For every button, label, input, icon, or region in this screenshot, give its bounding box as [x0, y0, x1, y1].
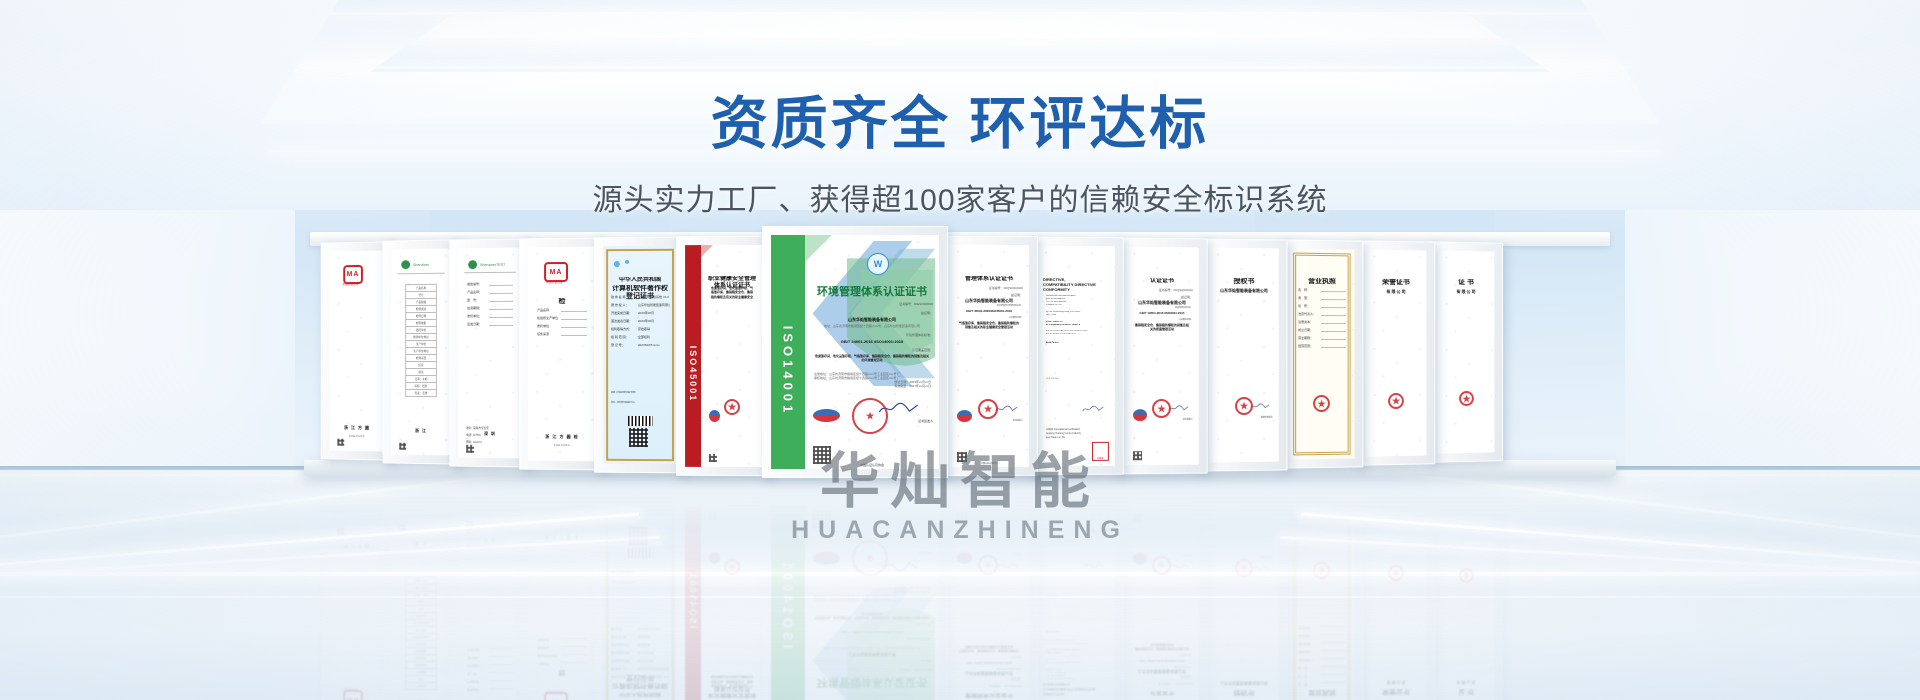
field-rule — [1321, 307, 1346, 308]
ce-standard-line-reflection: EN 55011:2009+A1:2010 / EN 61000-6-2:201… — [1046, 642, 1106, 644]
ce-annex-line-reflection: tic Compatibility Directive : Annex II — [1046, 648, 1106, 650]
certificate-number: 证书编号：00ES0000000 — [899, 302, 933, 306]
field-value-reflection: 原始取得 — [638, 643, 670, 647]
field-label-reflection: 委托单位： — [467, 656, 482, 660]
certificate-frame[interactable]: 荣誉证书有 限 公 司 — [1356, 240, 1435, 466]
qr-code-reflection — [466, 521, 474, 529]
field-rule — [561, 311, 587, 312]
ce-body-line: Zhongtai Co., Ltd — [1046, 304, 1106, 306]
ce-body-line: Manufacturer and audit has been — [1046, 295, 1106, 297]
ce-body-line-reflection: Manufacturer and audit has been — [1046, 677, 1106, 679]
field-label: 权 利 范 围： — [611, 335, 628, 339]
certificate-paper-reflection: Shenzhen产品名称型号产品规格检测类别检测日期检测依据委托单位检测单位地址… — [391, 519, 450, 700]
form-row-reflection: 检测依据 — [405, 647, 437, 655]
page-title: 资质齐全 环评达标 — [0, 96, 1920, 153]
certificate-supertitle: 中华人民共和国 — [609, 277, 671, 284]
official-red-seal — [1235, 397, 1253, 415]
accreditation-logo-reflection — [957, 552, 972, 564]
certificate-title: 检 — [534, 298, 590, 306]
certificate-frame-reflection: DIRECTIVE,COMPATIBILITY DIRECTIVECONFORM… — [1028, 499, 1124, 700]
signature-mark-reflection — [1168, 557, 1189, 574]
certificate-note: 依据《计算机软件保护条例》 — [611, 391, 669, 394]
field-rule-reflection — [489, 672, 513, 673]
certificate-paper: 管理体系认证证书证书编号：00QS0000000兹证明：山东华灿智能装备有限公司… — [949, 245, 1029, 467]
certificate-paper-reflection: 授权书山东华灿智能装备有限公司授权代表签名 — [1209, 512, 1279, 700]
field-label-reflection: 检验所生产单位 — [537, 654, 558, 658]
frame-mat-reflection: 荣誉证书有 限 公 司 — [1365, 517, 1426, 700]
certification-scope-reflection: 危废暂存间、危化品暂存柜、气瓶暂存库、集装箱安全仓、集装箱防爆柜的销售及相关的环… — [814, 611, 930, 620]
qr-code-reflection — [337, 528, 344, 535]
issue-line-reflection: 审核地址：山东省济南市槐荫区经十西路xxxx号工业园区xxx号 厂 — [814, 594, 930, 598]
signature-label: 证书签发人 — [1013, 419, 1023, 422]
certificate-frame-reflection: ISO14001 W环境管理体系认证证书证书编号：00ES0000000兹证明：… — [762, 496, 948, 700]
certificate-frame[interactable]: 授权书山东华灿智能装备有限公司授权代表签名 — [1200, 238, 1288, 471]
standard-label: 职业健康安全管理体系标准： — [997, 304, 1023, 307]
field-rule — [1321, 331, 1346, 332]
certificate-title: 证 书 — [1443, 279, 1488, 288]
issuing-organization: 中国认证认可协会 — [811, 463, 933, 467]
certificate-paper-reflection: ShenzhenTEST报告编号：产品名称：型 号：检测期限：委托单位：签发日期… — [458, 516, 522, 700]
certified-company-name: 有 限 公 司 — [1443, 289, 1488, 296]
certified-company-name: 山东华灿智能装备有限公司 — [811, 317, 933, 323]
certificate-frame[interactable]: DIRECTIVE,COMPATIBILITY DIRECTIVECONFORM… — [1028, 237, 1124, 476]
form-row: 签发：盖章 — [405, 389, 437, 397]
field-label: 产品名称： — [467, 290, 482, 294]
certificate-note-reflection: 依据《计算机软件保护条例》 — [611, 580, 669, 583]
ce-title-line: CONFORMITY — [1043, 287, 1109, 292]
frame-mat: ISO45001职业健康安全管理体系认证证书危废暂存间、危化品暂存柜、气瓶暂存库… — [685, 245, 763, 467]
frame-mat: MA中国计量认证浙 江 方 圆ZHEJIANG — [330, 250, 385, 451]
certificate-number-reflection: 证书编号：00QS0000000 — [1159, 682, 1193, 686]
field-rule — [1321, 347, 1346, 348]
official-red-seal-reflection — [1313, 562, 1330, 579]
company-label-reflection: 兹证明： — [921, 659, 933, 663]
accreditation-logo-reflection — [813, 552, 840, 565]
form-row-reflection: 日期：主检 — [405, 591, 437, 599]
issuer-line: UDEM International Certification — [1046, 428, 1080, 431]
form-row-reflection: 型号 — [405, 675, 437, 683]
frame-mat-reflection: 认证证书证书编号：00QS0000000兹证明：山东华灿智能装备有限公司质量管理… — [1125, 509, 1199, 700]
issuer-line-reflection: Auditing Training Centre Industry — [1046, 539, 1081, 542]
certificate-title: 环境管理体系认证证书 — [811, 286, 933, 299]
official-red-seal-reflection — [978, 555, 998, 575]
certificate-footer: 浙 江 方 圆 检 — [534, 434, 590, 440]
certificate-title-reflection: 证 书 — [1443, 687, 1488, 696]
field-label: 经营范围： — [1298, 344, 1313, 348]
field-label: 注册资本： — [1298, 320, 1313, 324]
frame-mat: Shenzhen产品名称型号产品规格检测类别检测日期检测依据委托单位检测单位地址… — [391, 249, 450, 456]
certificate-frame[interactable]: ISO45001职业健康安全管理体系认证证书危废暂存间、危化品暂存柜、气瓶暂存库… — [676, 236, 772, 476]
certification-scope: 气瓶暂存库、集装箱安全仓、集装箱防爆柜的销售及相关的职业健康安全管理活动 — [958, 321, 1020, 330]
field-label: 委托单位 — [537, 324, 549, 328]
certification-standard: GB/T 24001-2016 /ISO14001:2015 — [811, 339, 933, 344]
frame-mat-reflection: 授权书山东华灿智能装备有限公司授权代表签名 — [1209, 512, 1279, 700]
field-value-reflection: 2023年05月 — [638, 659, 670, 663]
certificate-paper: ISO45001职业健康安全管理体系认证证书危废暂存间、危化品暂存柜、气瓶暂存库… — [685, 245, 763, 467]
field-label: 软 件 名 称： — [611, 295, 628, 299]
field-rule — [1321, 339, 1346, 340]
certification-standard: GB/T 45001-2020/ISO45001:2018 — [955, 309, 1023, 313]
certificate-footer-reflection: 浙 江 方 圆 — [335, 543, 378, 550]
lab-org-logo: ShenzhenTEST — [468, 260, 505, 269]
field-label-reflection: 开发完成日期： — [611, 659, 632, 663]
certificate-note-reflection: 商标、软件著作权保护中心 — [611, 570, 669, 573]
certificate-supertitle-reflection: 中华人民共和国 — [609, 690, 671, 697]
certificate-frame[interactable]: Shenzhen产品名称型号产品规格检测类别检测日期检测依据委托单位检测单位地址… — [383, 239, 460, 464]
field-rule — [489, 325, 513, 326]
field-label: 著 作 权 人： — [611, 303, 628, 307]
certificate-paper-reflection: 荣誉证书有 限 公 司 — [1365, 517, 1426, 700]
form-row-reflection: 签发：盖章 — [405, 577, 437, 585]
certification-standard-reflection: GB/T 45001-2020/ISO45001:2018 — [955, 661, 1023, 665]
certification-scope-reflection: 危废暂存间、危化品暂存柜、气瓶暂存库、集装箱安全仓、集装箱防爆柜及有关的职业健康… — [710, 675, 754, 688]
standard-label: 质量管理体系标准： — [1175, 306, 1193, 309]
certificate-spine-label: ISO45001 — [688, 345, 698, 401]
certificate-note: 商标、软件著作权保护中心 — [611, 401, 669, 404]
field-rule-reflection — [561, 646, 587, 647]
auditor-label: Audit Partner — [1046, 342, 1059, 344]
certificate-paper-reflection: 营业执照名 称：类 型：住 所：法定代表人：注册资本：成立日期：营业期限：经营范… — [1289, 514, 1354, 700]
field-label-reflection: 签发日期： — [467, 648, 482, 652]
ma-badge-caption: 中国计量认证 — [540, 280, 569, 284]
certified-company-name-reflection: 山东华灿智能装备有限公司 — [1215, 680, 1273, 686]
certificate-spine-label: ISO14001 — [781, 325, 796, 416]
field-rule-reflection — [1321, 674, 1346, 675]
standard-label-reflection: 职业健康安全管理体系标准： — [997, 667, 1023, 670]
field-value: 山东华灿智能装备有限公司 — [638, 303, 670, 307]
issuer-line: Auditing Training Centre Industry — [1046, 432, 1081, 435]
official-red-seal — [1459, 391, 1474, 406]
qr-code — [466, 445, 474, 453]
form-row-reflection: 检测项目 — [405, 612, 437, 620]
certificate-footer-line: 网址: www.sz — [466, 440, 482, 444]
certificate-paper-reflection: 管理体系认证证书证书编号：00QS0000000兹证明：山东华灿智能装备有限公司… — [949, 507, 1029, 700]
ce-address-line: ng: No. Shihuanang Road, Juxu Dirfict, — [1046, 311, 1106, 313]
field-label: 成立日期： — [1298, 328, 1313, 332]
certificate-paper-reflection: ISO45001职业健康安全管理体系认证证书危废暂存间、危化品暂存柜、气瓶暂存库… — [685, 507, 763, 700]
scope-label-reflection: 认证覆盖范围： — [1009, 655, 1023, 658]
field-rule-reflection — [561, 654, 587, 655]
certificate-frame[interactable]: MA中国计量认证检产品名称检验所生产单位委托单位任务来源浙 江 方 圆 检ZHE… — [519, 238, 605, 471]
signature-mark — [1168, 400, 1189, 417]
certificate-frame-reflection: 管理体系认证证书证书编号：00QS0000000兹证明：山东华灿智能装备有限公司… — [940, 498, 1038, 700]
certification-standard-reflection: GB/T 24001-2016 /ISO14001:2015 — [811, 630, 933, 635]
field-label-reflection: 营业期限： — [1298, 634, 1313, 638]
field-label: 首次发表日期： — [611, 319, 632, 323]
frame-mat: 管理体系认证证书证书编号：00QS0000000兹证明：山东华灿智能装备有限公司… — [949, 245, 1029, 467]
certificate-footer-line-reflection: 地址: 深圳市宝安区 — [466, 544, 489, 548]
qr-code — [813, 446, 831, 464]
frame-mat: ISO14001 W环境管理体系认证证书证书编号：00ES0000000兹证明：… — [771, 235, 939, 469]
field-rule — [489, 293, 513, 294]
frame-mat-reflection: DIRECTIVE,COMPATIBILITY DIRECTIVECONFORM… — [1037, 508, 1115, 700]
certificate-footer-line: 电话: (0755) — [466, 433, 481, 437]
certification-scope-reflection: 集装箱安全仓、集装箱防爆柜的销售及相关的质量管理活动 — [1134, 642, 1190, 651]
license-border-reflection — [1293, 519, 1350, 700]
field-label: 类 型： — [1298, 296, 1310, 300]
field-rule — [489, 301, 513, 302]
field-label: 名 称： — [1298, 288, 1310, 292]
ornament — [610, 253, 644, 275]
official-red-seal — [1313, 395, 1330, 412]
field-value: 智能在线巡检系统 V1.0 — [638, 295, 670, 299]
certificate-paper: MA中国计量认证检产品名称检验所生产单位委托单位任务来源浙 江 方 圆 检ZHE… — [528, 247, 596, 462]
barcode-reflection — [628, 548, 653, 558]
certificate-frame[interactable]: 证 书有 限 公 司 — [1428, 241, 1503, 463]
certificate-title-reflection: 授权书 — [1215, 688, 1273, 697]
certificate-frame-reflection: MA中国计量认证检产品名称检验所生产单位委托单位任务来源浙 江 方 圆 检ZHE… — [519, 504, 605, 700]
company-label-reflection: 兹证明： — [1011, 677, 1023, 681]
certificate-footer: 浙 江 方 圆 — [335, 425, 378, 432]
field-label-reflection: 权 利 范 围： — [611, 635, 628, 639]
field-label: 住 所： — [1298, 304, 1310, 308]
qr-code-reflection — [399, 524, 406, 531]
ce-standard-line: EN IEC 61000-3-2:2019+A1:2021 — [1046, 333, 1106, 335]
field-label-reflection: 名 称： — [1298, 682, 1310, 686]
certificate-frame-reflection: Shenzhen产品名称型号产品规格检测类别检测日期检测依据委托单位检测单位地址… — [383, 509, 460, 700]
field-rule — [489, 285, 513, 286]
field-rule — [1321, 299, 1346, 300]
field-label: 检验所生产单位 — [537, 316, 558, 320]
field-label-reflection: 首次发表日期： — [611, 651, 632, 655]
ce-annex-line: ective : Annex VII — [1046, 321, 1106, 323]
frame-mat: 营业执照名 称：类 型：住 所：法定代表人：注册资本：成立日期：营业期限：经营范… — [1289, 248, 1354, 459]
certificate-paper-reflection: MA中国计量认证浙 江 方 圆ZHEJIANG — [330, 522, 385, 700]
field-label-reflection: 型 号： — [467, 672, 479, 676]
ce-address-line-reflection: ng: No. Shihuanang Road, Juxu Dirfict, — [1046, 661, 1106, 663]
standard-label: 环境管理体系标准： — [906, 333, 933, 337]
certification-scope: 集装箱安全仓、集装箱防爆柜的销售及相关的质量管理活动 — [1134, 323, 1190, 332]
frame-mat: 荣誉证书有 限 公 司 — [1365, 249, 1426, 456]
date-line-reflection: 有效期至：2027年xx月xx日 — [894, 586, 931, 590]
certificate-frame-reflection: 授权书山东华灿智能装备有限公司授权代表签名 — [1200, 502, 1288, 700]
qr-code-reflection — [629, 527, 648, 546]
frame-mat-reflection: MA中国计量认证浙 江 方 圆ZHEJIANG — [330, 522, 385, 700]
field-label-reflection: 经营范围： — [1298, 626, 1313, 630]
field-value-reflection: 全部权利 — [638, 635, 670, 639]
field-value-reflection: 2023SR07xxxxx — [638, 627, 670, 631]
certificate-title-reflection: 检 — [534, 668, 590, 676]
company-label: 兹证明： — [1181, 295, 1193, 299]
standard-label-reflection: 质量管理体系标准： — [1175, 665, 1193, 668]
field-label: 开发完成日期： — [611, 311, 632, 315]
certificate-frame[interactable]: 管理体系认证证书证书编号：00QS0000000兹证明：山东华灿智能装备有限公司… — [940, 236, 1038, 476]
certificate-footer-line-reflection: 电话: (0755) — [466, 537, 481, 541]
headline-block: 资质齐全 环评达标 源头实力工厂、获得超100家客户的信赖安全标识系统 — [0, 0, 1920, 219]
ce-annex-line-reflection: ective : Annex VII — [1046, 651, 1106, 653]
frame-mat-reflection: MA中国计量认证检产品名称检验所生产单位委托单位任务来源浙 江 方 圆 检ZHE… — [528, 513, 596, 700]
ma-badge-caption-reflection: 中国计量认证 — [540, 690, 569, 694]
field-label-reflection: 登 记 号： — [611, 627, 625, 631]
certificate-footer-sub-reflection: ZHEJIANG — [534, 527, 590, 530]
qr-code-reflection — [1133, 514, 1142, 523]
field-label: 签发日期： — [467, 322, 482, 326]
field-label-reflection: 报告编号： — [467, 688, 482, 692]
field-rule — [489, 309, 513, 310]
certificate-shelf-reflection: MA中国计量认证浙 江 方 圆ZHEJIANG Shenzhen产品名称型号产品… — [310, 492, 1610, 700]
form-row-reflection: 检测单位地址 — [405, 633, 437, 641]
field-label-reflection: 任务来源 — [537, 638, 549, 642]
signature-label-reflection: 证书签发人 — [1013, 552, 1023, 555]
qr-code — [399, 443, 406, 450]
field-value: 2023SR07xxxxx — [638, 343, 670, 347]
field-rule — [561, 319, 587, 320]
field-label-reflection: 著 作 权 人： — [611, 667, 628, 671]
ma-badge-caption: 中国计量认证 — [339, 282, 362, 286]
certificate-shelf: MA中国计量认证浙 江 方 圆ZHEJIANG Shenzhen产品名称型号产品… — [310, 232, 1610, 482]
field-label-reflection: 软 件 名 称： — [611, 675, 628, 679]
certificate-title-reflection: 营业执照 — [1295, 688, 1349, 697]
certificate-frame-reflection: ISO45001职业健康安全管理体系认证证书危废暂存间、危化品暂存柜、气瓶暂存库… — [676, 498, 772, 700]
qr-code — [629, 428, 648, 447]
company-address: 地址：山东省济南市槐荫区经十西路xxxx号，山东华灿智能装备有限公司 — [811, 324, 933, 328]
certificate-title: 授权书 — [1215, 278, 1273, 287]
form-row-reflection: 产品规格 — [405, 668, 437, 676]
form-row-reflection: 备注 — [405, 598, 437, 606]
issuer-line-reflection: UDEM International Certification — [1046, 543, 1080, 546]
certificate-footer-line-reflection: 网址: www.sz — [466, 530, 482, 534]
certificate-title-reflection: 认证证书 — [1131, 689, 1193, 696]
official-red-seal — [1152, 399, 1171, 418]
field-rule-reflection — [1321, 658, 1346, 659]
certificate-paper-reflection: DIRECTIVE,COMPATIBILITY DIRECTIVECONFORM… — [1037, 508, 1115, 700]
company-label: 兹证明： — [921, 311, 933, 315]
certified-company-name-reflection: 有 限 公 司 — [1371, 679, 1420, 686]
certificate-frame-reflection: 荣誉证书有 限 公 司 — [1356, 508, 1435, 700]
certificate-paper: ISO14001 W环境管理体系认证证书证书编号：00ES0000000兹证明：… — [771, 235, 939, 469]
official-red-seal-reflection — [852, 540, 888, 576]
certificate-title-reflection: 环境管理体系认证证书 — [811, 675, 933, 688]
ce-address-line: ince, China — [1046, 314, 1106, 316]
certificate-paper-reflection: 中华人民共和国计算机软件著作权登记证书软 件 名 称：智能在线巡检系统 V1.0… — [603, 510, 677, 700]
certificate-frame-reflection: 认证证书证书编号：00QS0000000兹证明：山东华灿智能装备有限公司质量管理… — [1116, 499, 1208, 700]
certificate-paper: 证 书有 限 公 司 — [1437, 250, 1494, 453]
certificate-title: 认证证书 — [1131, 278, 1193, 285]
field-rule-reflection — [489, 664, 513, 665]
signature-label: 证书签发人 — [1183, 418, 1193, 421]
issuing-organization-reflection: 中国认证认可协会 — [955, 509, 1023, 512]
certificate-paper: Shenzhen产品名称型号产品规格检测类别检测日期检测依据委托单位检测单位地址… — [391, 249, 450, 456]
frame-mat-reflection: ISO14001 W环境管理体系认证证书证书编号：00ES0000000兹证明：… — [771, 505, 939, 700]
certificate-number: 证书编号：00QS0000000 — [1159, 288, 1193, 292]
certificate-paper: ShenzhenTEST报告编号：产品名称：型 号：检测期限：委托单位：签发日期… — [458, 248, 522, 459]
certification-standard-reflection: GB/T 19001-2016 /ISO9001:2015 — [1131, 659, 1193, 663]
ce-body-line-reflection: EMC Electromagnetic — [1046, 674, 1106, 676]
certificate-frame[interactable]: 营业执照名 称：类 型：住 所：法定代表人：注册资本：成立日期：营业期限：经营范… — [1280, 239, 1363, 468]
form-row-reflection: 检测日期 — [405, 654, 437, 662]
qr-code — [1133, 451, 1142, 460]
certificate-title-reflection: 管理体系认证证书 — [955, 691, 1023, 698]
page-subtitle: 源头实力工厂、获得超100家客户的信赖安全标识系统 — [0, 175, 1920, 219]
signature-mark-reflection — [1082, 556, 1104, 574]
hero-banner: 资质齐全 环评达标 源头实力工厂、获得超100家客户的信赖安全标识系统 MA中国… — [0, 0, 1920, 700]
issuing-organization: 中国认证认可协会 — [955, 462, 1023, 465]
frame-mat: 中华人民共和国计算机软件著作权登记证书软 件 名 称：智能在线巡检系统 V1.0… — [603, 246, 677, 464]
field-label-reflection: 法定代表人： — [1298, 658, 1316, 662]
certificate-paper-reflection: 认证证书证书编号：00QS0000000兹证明：山东华灿智能装备有限公司质量管理… — [1125, 509, 1199, 700]
certified-company-name-reflection: 有 限 公 司 — [1443, 679, 1488, 686]
ce-address-line-reflection: ince, China — [1046, 658, 1106, 660]
accreditation-logo — [957, 410, 972, 422]
certificate-paper: 荣誉证书有 限 公 司 — [1365, 249, 1426, 456]
field-label: 营业期限： — [1298, 336, 1313, 340]
accreditation-logo — [709, 410, 720, 422]
scope-label-reflection: 认证覆盖范围： — [912, 622, 933, 626]
signature-label: 证书签发人 — [918, 419, 933, 423]
certificate-number-reflection: 证书编号：00QS0000000 — [989, 684, 1023, 688]
standard-label-reflection: 环境管理体系标准： — [906, 637, 933, 641]
qr-code — [709, 454, 717, 462]
certification-scope: 危废暂存间、危化品暂存柜、气瓶暂存库、集装箱安全仓、集装箱防爆柜及有关的职业健康… — [710, 286, 754, 299]
company-label-reflection: 兹证明： — [1181, 675, 1193, 679]
certificate-frame[interactable]: 中华人民共和国计算机软件著作权登记证书软 件 名 称：智能在线巡检系统 V1.0… — [594, 237, 686, 474]
field-label: 型 号： — [467, 298, 479, 302]
field-value-reflection: 2023年06月 — [638, 651, 670, 655]
signature-label: 授权代表签名 — [1261, 416, 1273, 419]
udem-logo: UDEM — [1092, 442, 1109, 461]
signature-label-reflection: 授权代表签名 — [1261, 555, 1273, 558]
frame-mat: 授权书山东华灿智能装备有限公司授权代表签名 — [1209, 248, 1279, 463]
field-label: 权利取得方式： — [611, 327, 632, 331]
field-rule — [1321, 315, 1346, 316]
certification-scope: 危废暂存间、危化品暂存柜、气瓶暂存库、集装箱安全仓、集装箱防爆柜的销售及相关的环… — [814, 354, 930, 363]
issuer-line-reflection: and Trade Inc. Co. — [1046, 535, 1066, 538]
ma-badge-caption-reflection: 中国计量认证 — [339, 688, 362, 692]
field-label-reflection: 成立日期： — [1298, 642, 1313, 646]
frame-mat-reflection: 证 书有 限 公 司 — [1437, 520, 1494, 700]
signature-label-reflection: 证书签发人 — [918, 551, 933, 555]
official-red-seal-reflection — [1152, 556, 1171, 575]
certificate-paper: 营业执照名 称：类 型：住 所：法定代表人：注册资本：成立日期：营业期限：经营范… — [1289, 248, 1354, 459]
field-rule — [561, 327, 587, 328]
certification-standard: GB/T 19001-2016 /ISO9001:2015 — [1131, 311, 1193, 315]
field-rule-reflection — [1321, 642, 1346, 643]
field-rule-reflection — [561, 662, 587, 663]
certificate-frame[interactable]: 认证证书证书编号：00QS0000000兹证明：山东华灿智能装备有限公司质量管理… — [1116, 237, 1208, 474]
ce-standard-line-reflection: EN IEC 61000-3-2:2019+A1:2021 — [1046, 639, 1106, 641]
frame-mat: 认证证书证书编号：00QS0000000兹证明：山东华灿智能装备有限公司质量管理… — [1125, 247, 1199, 466]
accreditation-logo-reflection — [709, 552, 720, 564]
ce-title-line-reflection: CONFORMITY — [1043, 682, 1109, 687]
certificate-frame[interactable]: ISO14001 W环境管理体系认证证书证书编号：00ES0000000兹证明：… — [762, 226, 948, 478]
frame-mat: 证 书有 限 公 司 — [1437, 250, 1494, 453]
certificate-spine-reflection: ISO14001 — [771, 505, 805, 700]
official-red-seal — [1388, 393, 1404, 409]
field-rule — [561, 335, 587, 336]
ce-annex-line: tic Compatibility Directive : Annex II — [1046, 324, 1106, 326]
field-label: 报告编号： — [467, 282, 482, 286]
certificate-paper-reflection: 证 书有 限 公 司 — [1437, 520, 1494, 700]
certificate-title-reflection: 荣誉证书 — [1371, 687, 1420, 696]
frame-mat-reflection: ShenzhenTEST报告编号：产品名称：型 号：检测期限：委托单位：签发日期… — [458, 516, 522, 700]
frame-mat: MA中国计量认证检产品名称检验所生产单位委托单位任务来源浙 江 方 圆 检ZHE… — [528, 247, 596, 462]
field-label: 检测期限： — [467, 306, 482, 310]
frame-mat-reflection: Shenzhen产品名称型号产品规格检测类别检测日期检测依据委托单位检测单位地址… — [391, 519, 450, 700]
frame-mat-reflection: ISO45001职业健康安全管理体系认证证书危废暂存间、危化品暂存柜、气瓶暂存库… — [685, 507, 763, 700]
certificate-paper-reflection: MA中国计量认证检产品名称检验所生产单位委托单位任务来源浙 江 方 圆 检ZHE… — [528, 513, 596, 700]
certificate-frame-reflection: 中华人民共和国计算机软件著作权登记证书软 件 名 称：智能在线巡检系统 V1.0… — [594, 501, 686, 700]
scope-label: 认证覆盖范围： — [912, 348, 933, 352]
field-label-reflection: 产品名称 — [537, 662, 549, 666]
accreditation-logo — [813, 409, 840, 422]
certified-company-name: 有 限 公 司 — [1371, 289, 1420, 296]
accreditation-logo — [1133, 409, 1147, 421]
field-rule-reflection — [1321, 634, 1346, 635]
field-rule-reflection — [1321, 650, 1346, 651]
signature-mark — [995, 400, 1018, 418]
qr-code-reflection — [813, 510, 831, 528]
certificate-frame-reflection: 证 书有 限 公 司 — [1428, 511, 1503, 700]
